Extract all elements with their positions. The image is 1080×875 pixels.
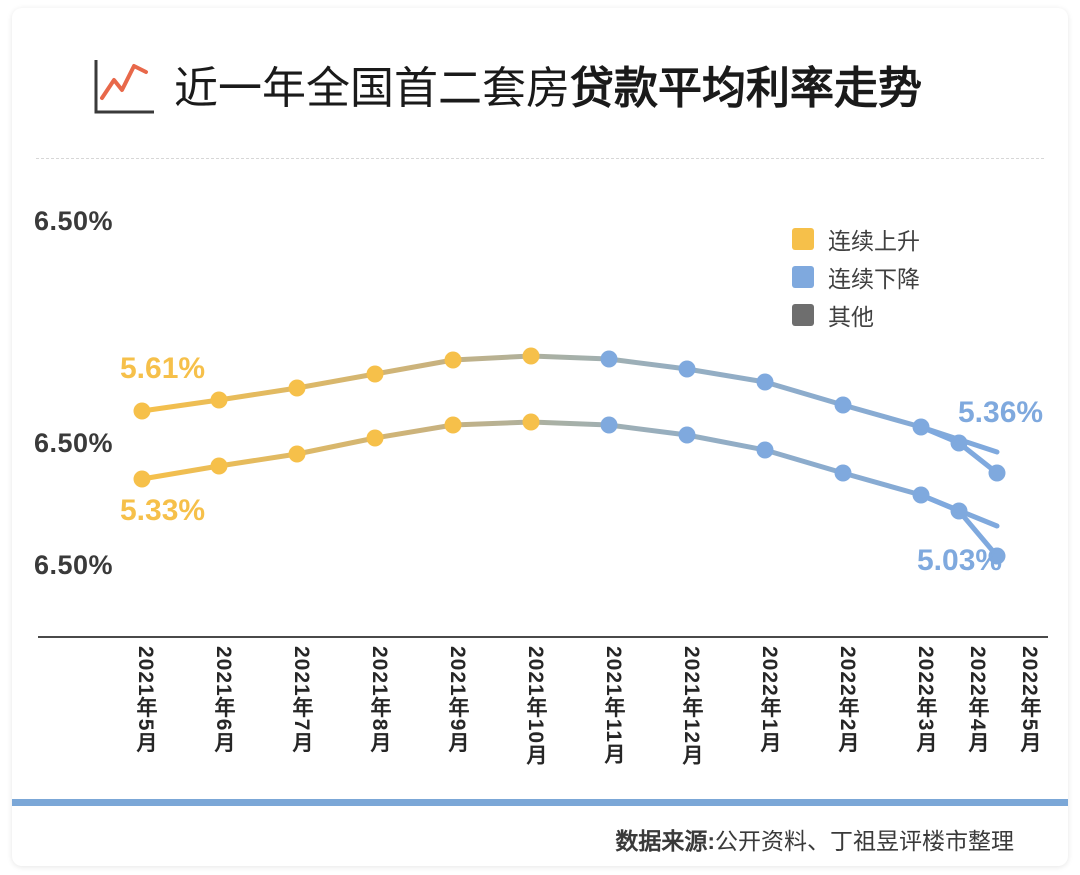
source-label: 数据来源: [615, 828, 715, 854]
x-tick-8: 2022年1月 [754, 646, 784, 753]
annotation-last-upper: 5.36% [958, 396, 1043, 430]
series-line-lower [142, 422, 997, 526]
x-tick-5: 2021年10月 [520, 646, 550, 766]
source-note: 数据来源:公开资料、丁祖昱评楼市整理 [615, 822, 1014, 856]
x-tick-2: 2021年7月 [286, 646, 316, 753]
annotation-first-upper: 5.61% [120, 352, 205, 386]
source-value: 公开资料、丁祖昱评楼市整理 [715, 828, 1014, 854]
annotation-first-lower: 5.33% [120, 494, 205, 528]
x-tick-1: 2021年6月 [208, 646, 238, 753]
page-title-prefix: 近一年全国首二套房 [174, 64, 570, 113]
header-divider [36, 158, 1044, 159]
x-tick-0: 2021年5月 [130, 646, 160, 753]
chart-plot-area: 6.50% 6.50% 6.50% 连续上升 连续下降 其他 [12, 160, 1068, 800]
x-tick-9: 2022年2月 [832, 646, 862, 753]
annotation-last-lower: 5.03% [917, 544, 1002, 578]
x-tick-12: 2022年5月 [1014, 646, 1044, 753]
series-markers-lower [134, 414, 1006, 565]
series-line-upper [142, 356, 997, 452]
x-tick-6: 2021年11月 [598, 646, 628, 765]
page-title: 近一年全国首二套房贷款平均利率走势 [174, 63, 922, 115]
x-tick-7: 2021年12月 [676, 646, 706, 766]
chart-header: 近一年全国首二套房贷款平均利率走势 [12, 8, 1068, 156]
x-tick-10: 2022年3月 [910, 646, 940, 753]
x-tick-11: 2022年4月 [962, 646, 992, 753]
x-tick-3: 2021年8月 [364, 646, 394, 753]
x-tick-4: 2021年9月 [442, 646, 472, 753]
page-title-emphasis: 贷款平均利率走势 [570, 64, 922, 113]
footer-accent-bar [12, 799, 1068, 806]
line-chart-icon [90, 56, 158, 118]
chart-card: 近一年全国首二套房贷款平均利率走势 6.50% 6.50% 6.50% 连续上升… [12, 8, 1068, 866]
x-axis-line [38, 636, 1048, 638]
